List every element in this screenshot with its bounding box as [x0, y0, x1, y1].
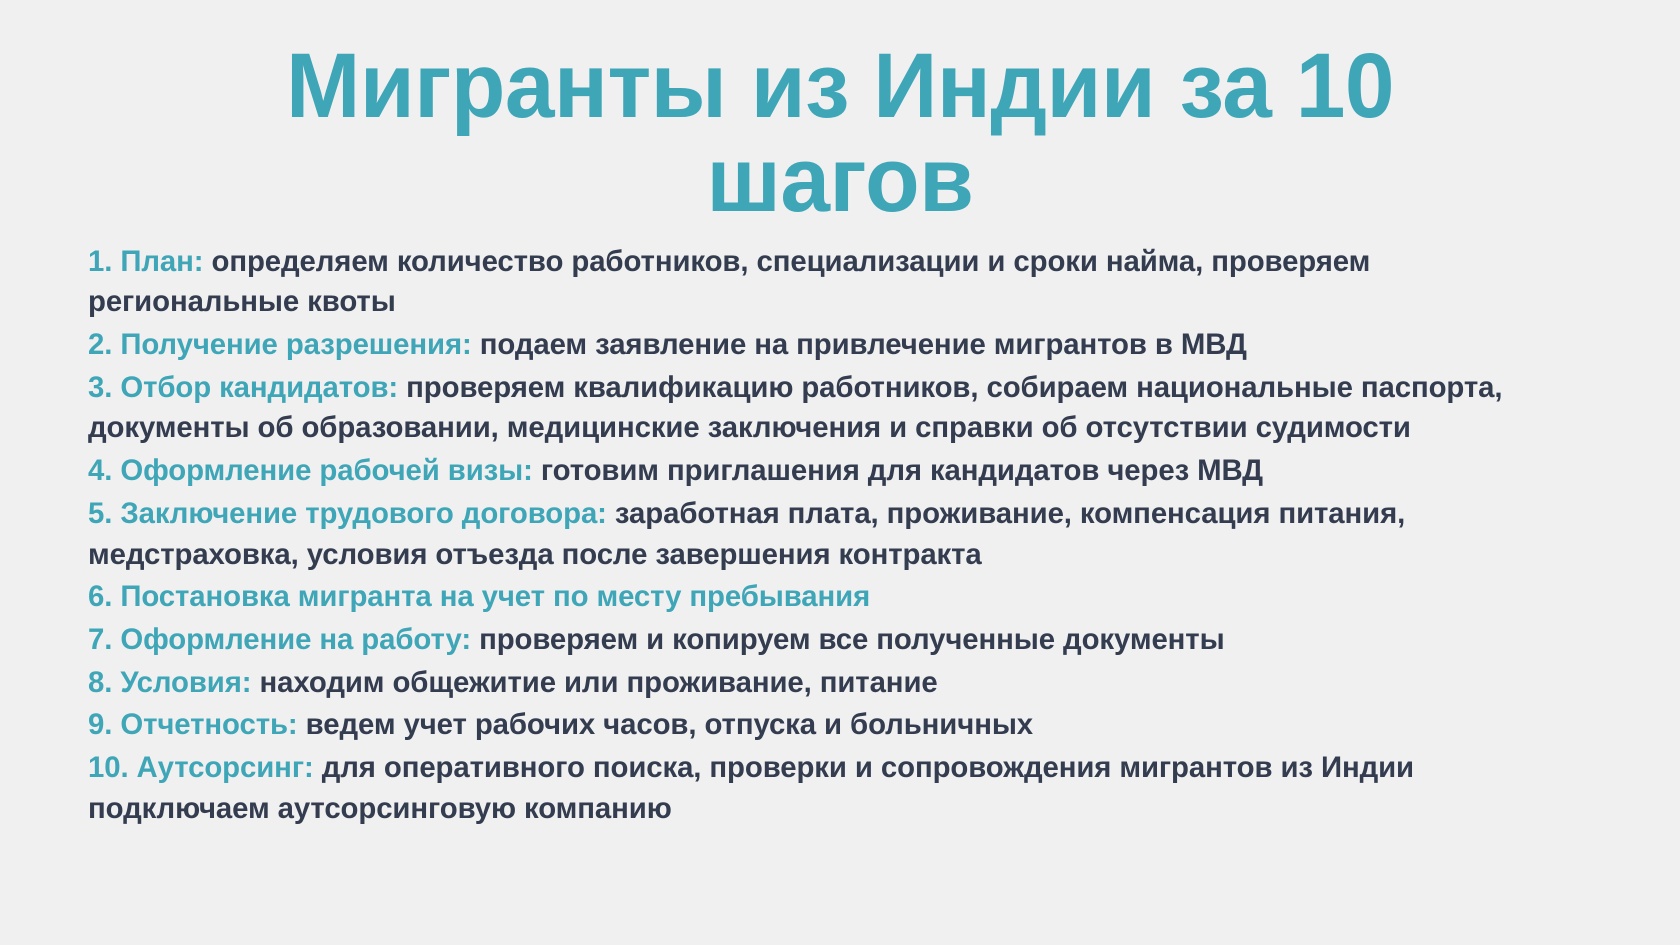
step-label: 10. Аутсорсинг:	[88, 751, 314, 784]
list-item: 10. Аутсорсинг: для оперативного поиска,…	[88, 748, 1584, 829]
slide: Мигранты из Индии за 10 шагов 1. План: о…	[0, 0, 1680, 945]
list-item: 6. Постановка мигранта на учет по месту …	[88, 577, 1584, 618]
step-body: находим общежитие или проживание, питани…	[260, 666, 938, 699]
steps-list: 1. План: определяем количество работнико…	[0, 228, 1680, 830]
list-item: 4. Оформление рабочей визы: готовим приг…	[88, 451, 1584, 492]
list-item: 2. Получение разрешения: подаем заявлени…	[88, 325, 1584, 366]
step-label: 3. Отбор кандидатов:	[88, 371, 398, 404]
step-label: 8. Условия:	[88, 666, 251, 699]
step-body: ведем учет рабочих часов, отпуска и боль…	[306, 708, 1033, 741]
step-label: 4. Оформление рабочей визы:	[88, 454, 533, 487]
step-label: 6. Постановка мигранта на учет по месту …	[88, 580, 870, 613]
list-item: 9. Отчетность: ведем учет рабочих часов,…	[88, 705, 1584, 746]
step-body: подаем заявление на привлечение мигранто…	[480, 328, 1247, 361]
list-item: 8. Условия: находим общежитие или прожив…	[88, 663, 1584, 704]
list-item: 5. Заключение трудового договора: зарабо…	[88, 494, 1584, 575]
step-label: 5. Заключение трудового договора:	[88, 497, 607, 530]
step-body: готовим приглашения для кандидатов через…	[541, 454, 1263, 487]
list-item: 7. Оформление на работу: проверяем и коп…	[88, 620, 1584, 661]
list-item: 1. План: определяем количество работнико…	[88, 242, 1584, 323]
list-item: 3. Отбор кандидатов: проверяем квалифика…	[88, 368, 1584, 449]
step-label: 1. План:	[88, 245, 203, 278]
step-label: 2. Получение разрешения:	[88, 328, 472, 361]
step-body: проверяем и копируем все полученные доку…	[479, 623, 1224, 656]
page-title: Мигранты из Индии за 10 шагов	[25, 0, 1655, 228]
step-label: 7. Оформление на работу:	[88, 623, 471, 656]
step-body: определяем количество работников, специа…	[88, 245, 1370, 319]
step-label: 9. Отчетность:	[88, 708, 298, 741]
